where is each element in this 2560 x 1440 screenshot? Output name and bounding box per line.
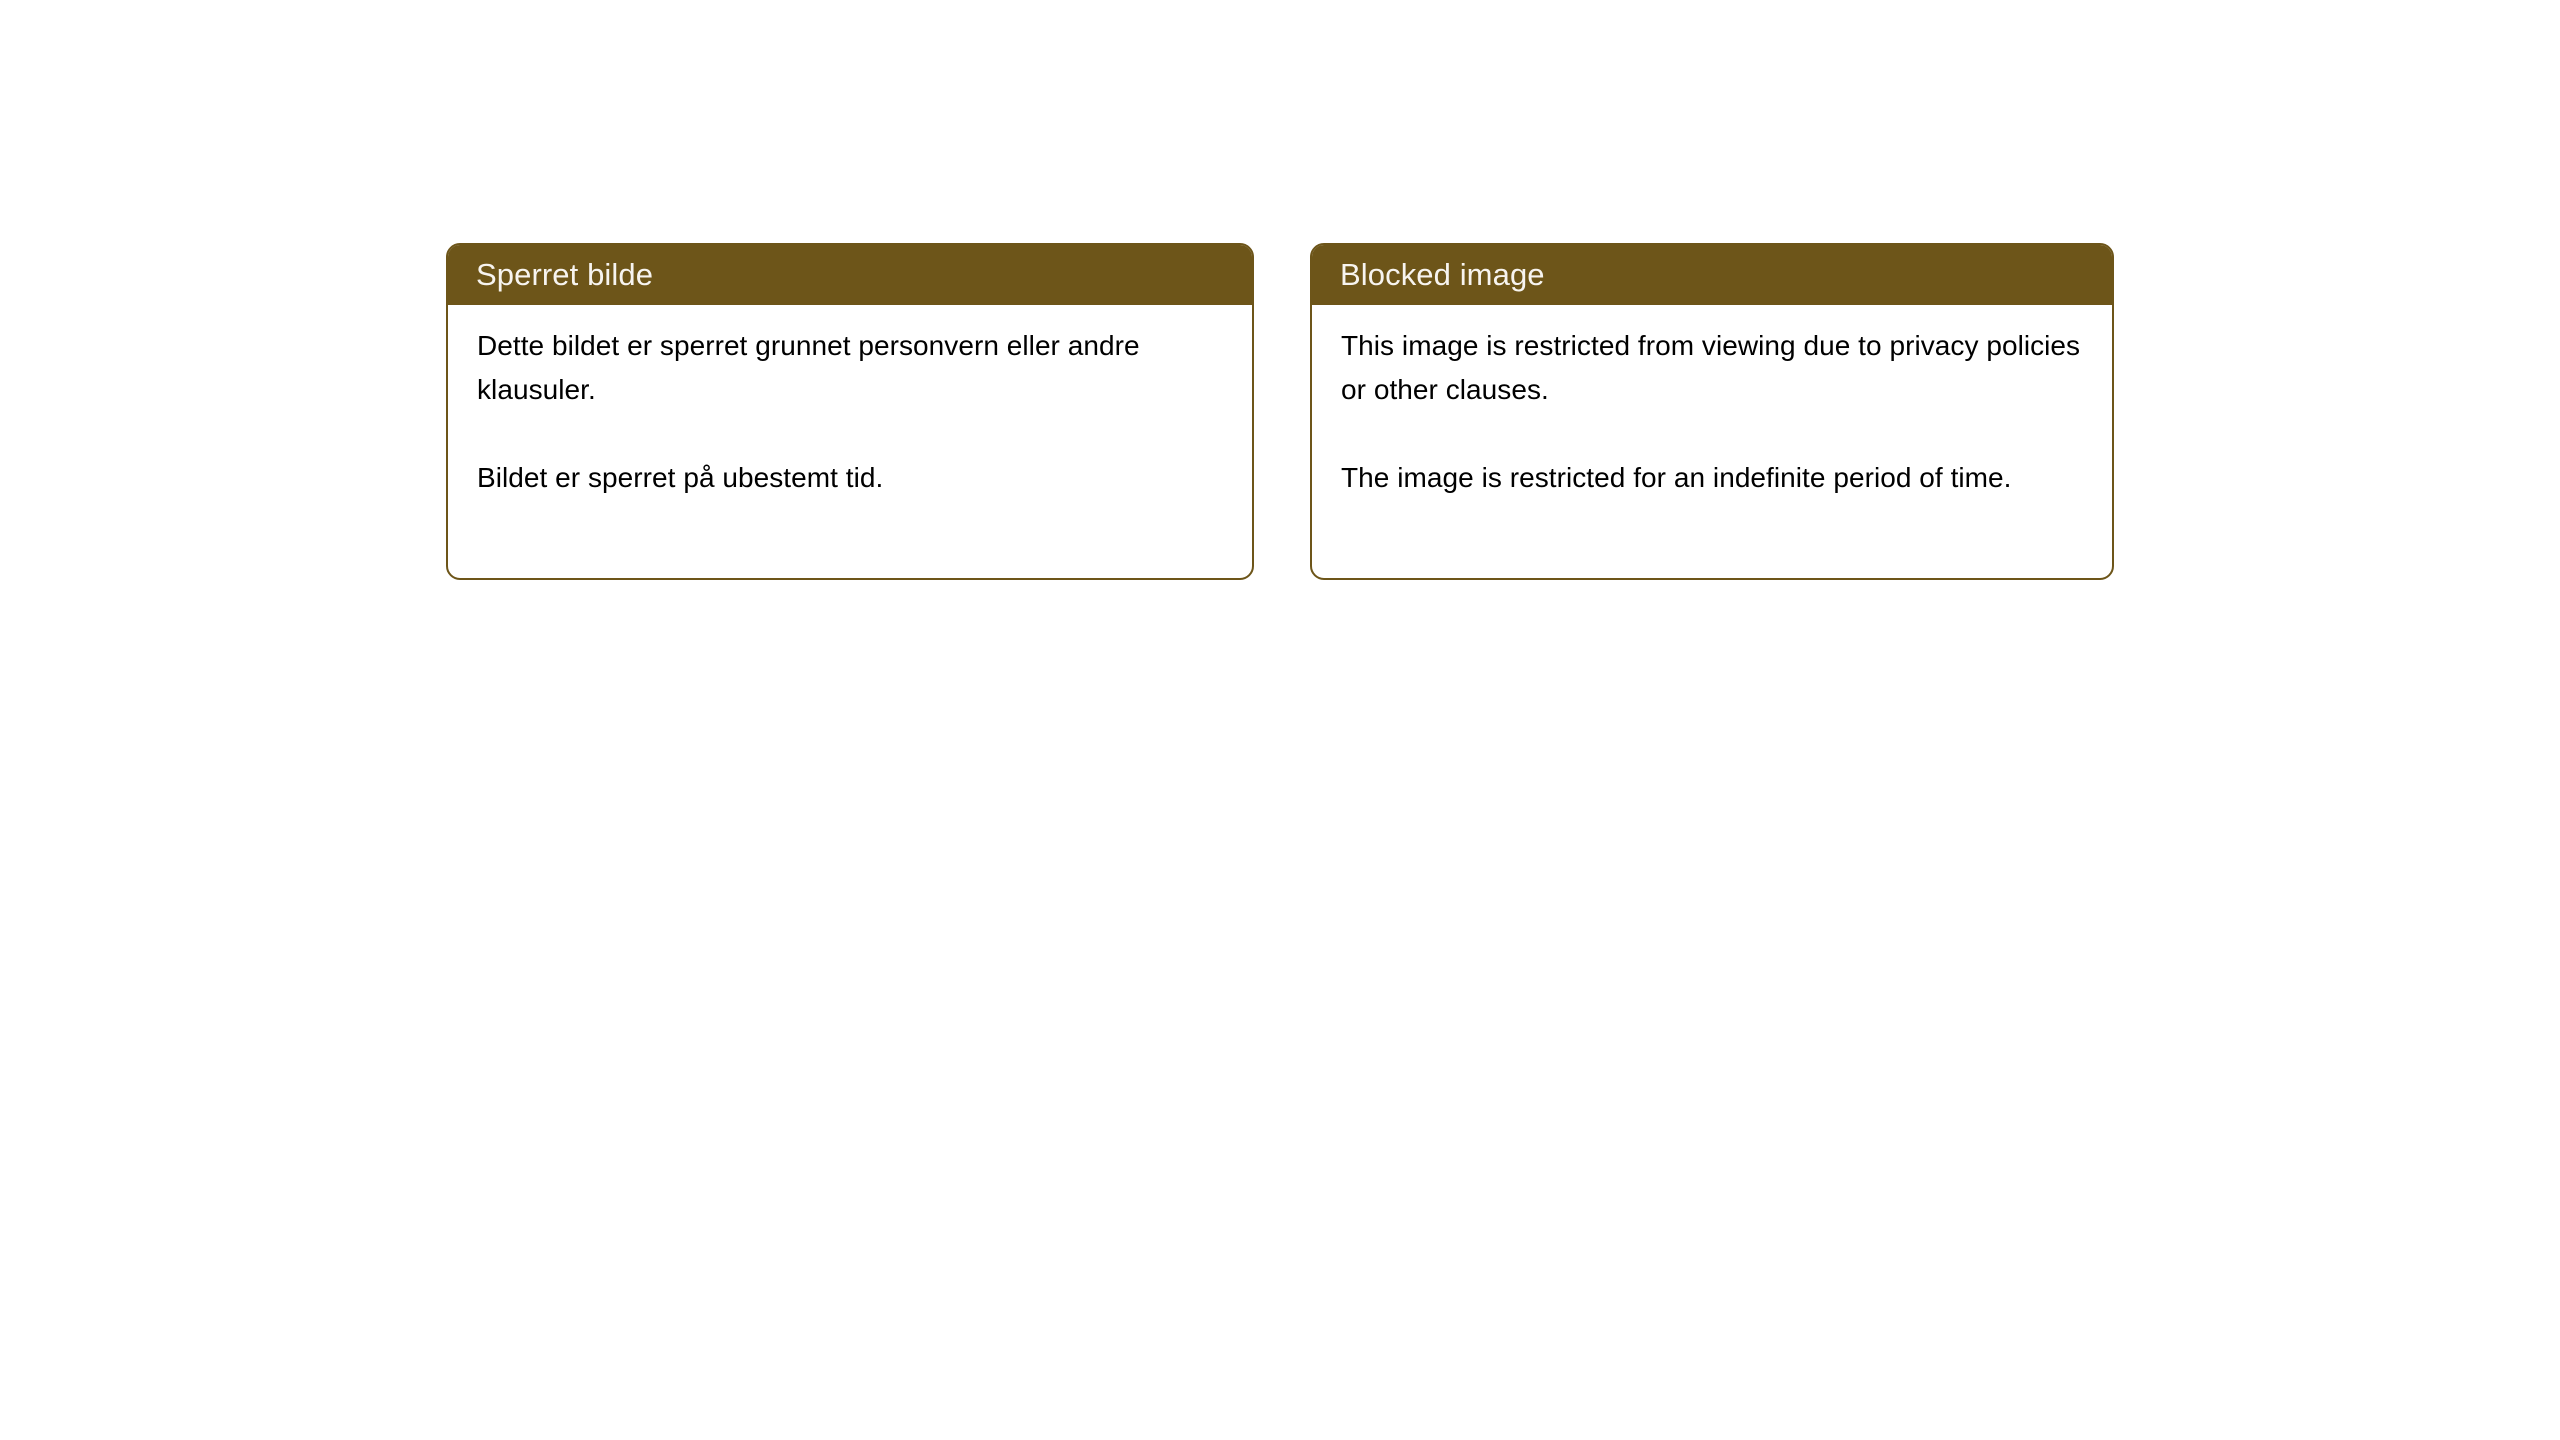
paragraph-spacer [477,412,1226,456]
card-paragraph-primary-english: This image is restricted from viewing du… [1341,324,2086,412]
card-paragraph-secondary-norwegian: Bildet er sperret på ubestemt tid. [477,456,1226,500]
page-canvas: Sperret bilde Dette bildet er sperret gr… [0,0,2560,1440]
card-body-norwegian: Dette bildet er sperret grunnet personve… [448,305,1252,500]
card-header-english: Blocked image [1312,245,2112,305]
blocked-image-notice-card-english: Blocked image This image is restricted f… [1310,243,2114,580]
paragraph-spacer [1341,412,2086,456]
card-header-norwegian: Sperret bilde [448,245,1252,305]
blocked-image-notice-card-norwegian: Sperret bilde Dette bildet er sperret gr… [446,243,1254,580]
card-paragraph-primary-norwegian: Dette bildet er sperret grunnet personve… [477,324,1226,412]
card-paragraph-secondary-english: The image is restricted for an indefinit… [1341,456,2086,500]
card-title-norwegian: Sperret bilde [476,257,653,293]
card-title-english: Blocked image [1340,257,1545,293]
card-body-english: This image is restricted from viewing du… [1312,305,2112,500]
